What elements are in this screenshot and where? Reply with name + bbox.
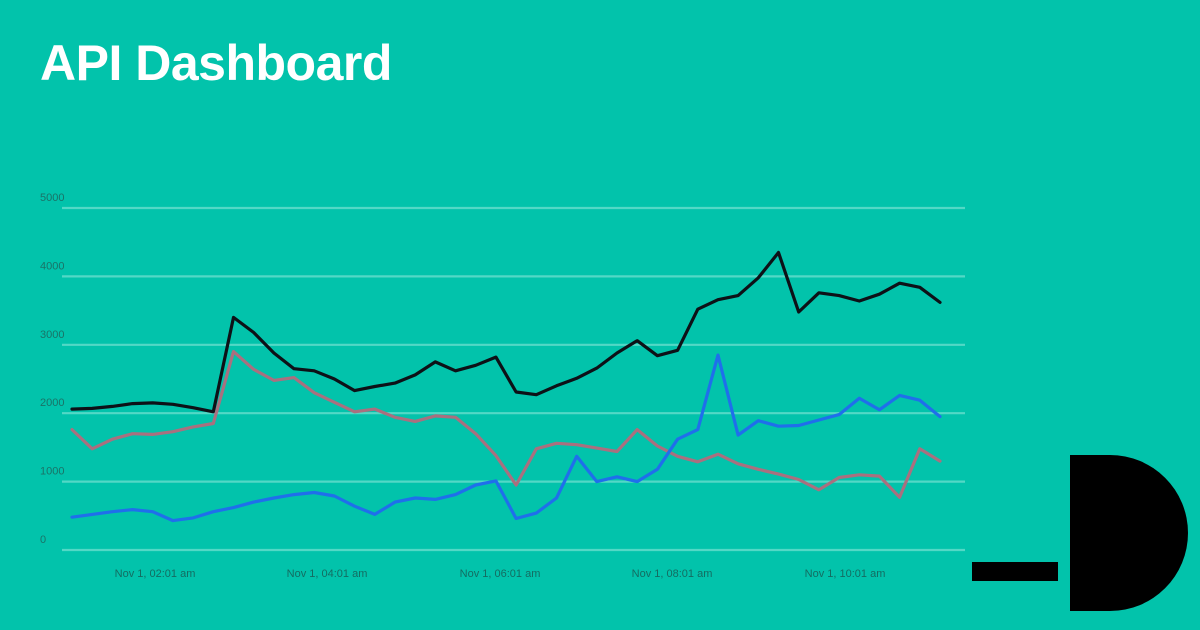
x-axis-tick-label: Nov 1, 04:01 am: [287, 568, 368, 580]
y-axis-tick-label: 0: [40, 534, 46, 546]
y-axis-labels-group: 500040003000200010000: [40, 192, 64, 546]
x-axis-labels-group: Nov 1, 02:01 amNov 1, 04:01 amNov 1, 06:…: [115, 568, 886, 580]
y-axis-tick-label: 2000: [40, 397, 64, 409]
x-axis-tick-label: Nov 1, 02:01 am: [115, 568, 196, 580]
y-axis-tick-label: 1000: [40, 466, 64, 478]
gridlines-group: [62, 208, 965, 550]
x-axis-tick-label: Nov 1, 10:01 am: [805, 568, 886, 580]
chart-svg: 500040003000200010000 Nov 1, 02:01 amNov…: [0, 0, 1200, 630]
series-group: [72, 253, 940, 521]
y-axis-tick-label: 3000: [40, 329, 64, 341]
dashboard-canvas: API Dashboard 500040003000200010000 Nov …: [0, 0, 1200, 630]
y-axis-tick-label: 5000: [40, 192, 64, 204]
series-blue-series: [72, 355, 940, 520]
y-axis-tick-label: 4000: [40, 260, 64, 272]
x-axis-tick-label: Nov 1, 08:01 am: [632, 568, 713, 580]
line-chart: 500040003000200010000 Nov 1, 02:01 amNov…: [0, 0, 1200, 630]
x-axis-tick-label: Nov 1, 06:01 am: [460, 568, 541, 580]
